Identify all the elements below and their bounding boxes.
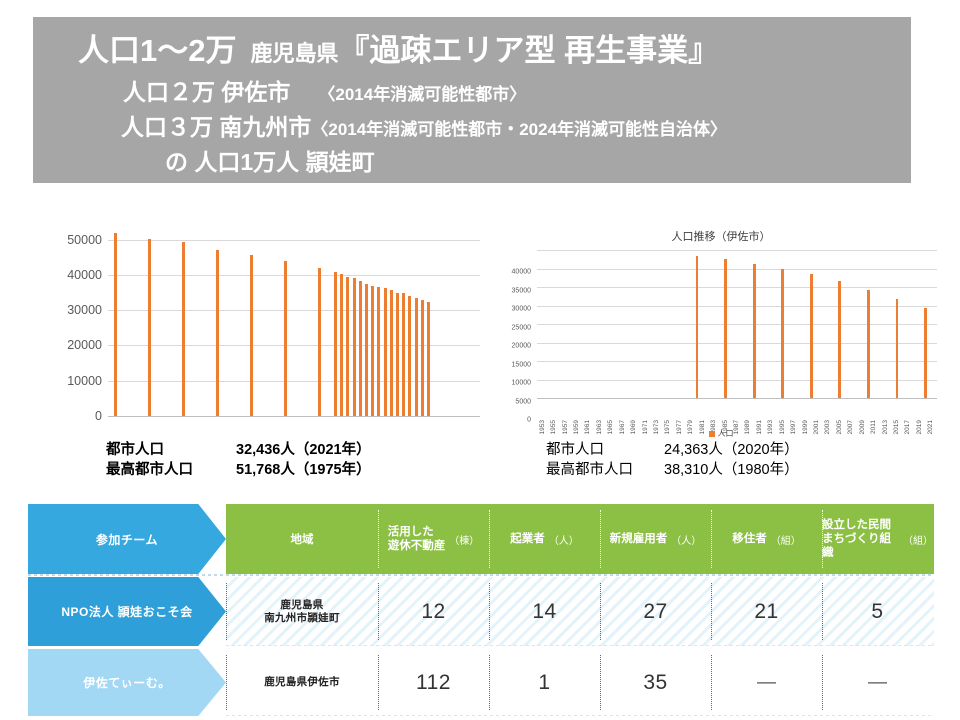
right-chart-gridline [537,324,937,325]
table-row-0-value-3-text: 21 [754,600,778,624]
left-chart-bar [390,290,393,416]
title-minamikyushu-head: 人口３万 南九州市 [121,114,311,140]
table-header-separator [28,574,934,576]
legend-swatch-icon [709,431,715,437]
cell-divider [822,583,823,640]
right-chart-bar [810,274,813,398]
table-row-1-value-3-text: — [757,672,776,694]
cell-divider [226,655,227,710]
left-chart-bar [421,300,424,416]
right-chart-bar [696,256,699,398]
right-chart-bar [838,281,841,398]
right-chart-gridline [537,361,937,362]
left-chart-plot-area [108,222,480,416]
table-header-col-0: 活用した 遊休不動産 （棟） [378,504,489,574]
table-header-team-cell: 参加チーム [28,504,226,574]
left-chart-gridline [108,416,480,417]
left-chart-bar [182,242,185,416]
left-chart-bar [359,281,362,416]
right-chart-ytick: 10000 [512,380,531,387]
table-row-0-cells: 鹿児島県 南九州市頴娃町 12 14 27 21 5 [226,577,934,646]
table-header-col-0-unit: （棟） [449,532,479,547]
right-chart-plot-area [537,250,937,398]
caption-left-row2: 最高都市人口51,768人（1975年） [106,460,371,480]
cell-divider [600,510,601,568]
table-header-col-4-unit: （組） [903,532,933,547]
caption-isa: 都市人口24,363人（2020年） 最高都市人口38,310人（1980年） [546,440,799,480]
table-header-col-2-unit: （人） [671,532,701,547]
caption-left-row1-value: 32,436人（2021年） [236,442,371,458]
right-chart-gridline [537,398,937,399]
table-row-0-value-2: 27 [600,577,711,646]
right-chart-gridline [537,287,937,288]
cell-divider [378,510,379,568]
cell-divider [378,655,379,710]
caption-right-row2: 最高都市人口38,310人（1980年） [546,460,799,480]
cell-divider [822,510,823,568]
chart-isa-population: 人口推移（伊佐市） 400003500030000250002000015000… [487,228,955,440]
title-line-ei: の 人口1万人 頴娃町 [33,146,911,178]
table-row-0-value-3: 21 [711,577,822,646]
right-chart-bar [924,308,927,398]
table-row-1-team-label: 伊佐てぃーむ。 [83,674,171,691]
table-header-cells: 地域 活用した 遊休不動産 （棟） 起業者 （人） [226,504,934,574]
left-chart-bar [427,302,430,416]
right-chart-gridline [537,380,937,381]
table-row-0-separator [226,645,934,646]
table-row-0-team-cell: NPO法人 頴娃おこそ会 [28,577,226,646]
left-chart-bar [365,284,368,416]
title-project-text: 『過疎エリア型 再生事業』 [339,33,720,68]
left-chart-ytick: 50000 [67,233,102,247]
right-chart-bar [781,269,784,398]
left-chart-ytick: 10000 [67,374,102,388]
table-header-col-3-line1: 移住者 [732,533,767,545]
table-row-0-team-label: NPO法人 頴娃おこそ会 [61,603,192,620]
right-chart-bar [753,264,756,398]
right-chart-bar [724,259,727,398]
right-chart-ytick: 20000 [512,343,531,350]
caption-left-row2-label: 最高都市人口 [106,460,236,480]
cell-divider [822,655,823,710]
table-row-0-value-4: 5 [822,577,933,646]
chart-minamikyushu-population: 50000400003000020000100000 [20,208,485,430]
left-chart-bar [402,293,405,416]
cell-divider [226,583,227,640]
title-isa-head: 人口２万 伊佐市 [123,79,290,105]
cell-divider [489,510,490,568]
left-chart-y-axis: 50000400003000020000100000 [20,208,102,420]
table-header-col-0-line2: 遊休不動産 [388,540,446,552]
table-row-0-region: 鹿児島県 南九州市頴娃町 [226,577,378,646]
cell-divider [711,583,712,640]
caption-right-row1: 都市人口24,363人（2020年） [546,440,799,460]
left-chart-bar [415,298,418,416]
table-header-region-label: 地域 [291,531,314,547]
left-chart-bar [408,296,411,416]
table-row-1-value-0-text: 112 [416,671,451,695]
left-chart-bar [284,261,287,416]
left-chart-gridline [108,345,480,346]
title-line-isa: 人口２万 伊佐市〈2014年消滅可能性都市〉 [33,76,911,111]
table-row-1-value-4-text: — [868,672,887,694]
cell-divider [378,583,379,640]
caption-right-row2-value: 38,310人（1980年） [664,462,799,478]
table-row-1-value-4: — [822,649,933,716]
table-row: NPO法人 頴娃おこそ会 鹿児島県 南九州市頴娃町 12 14 27 [28,577,934,646]
table-row-1-value-2: 35 [600,649,711,716]
table-header-team-label: 参加チーム [96,531,158,548]
table-header-col-2: 新規雇用者 （人） [600,504,711,574]
left-chart-bar [396,293,399,416]
right-chart-gridline [537,269,937,270]
left-chart-bar [318,268,321,416]
left-chart-ytick: 0 [95,409,102,423]
title-line-primary: 人口1〜2万鹿児島県『過疎エリア型 再生事業』 [33,29,911,76]
table-header-col-1: 起業者 （人） [489,504,600,574]
title-ei-text: の 人口1万人 頴娃町 [165,149,375,175]
table-header-col-4-line2: まちづくり組織 [822,533,891,559]
cell-divider [489,583,490,640]
table-header-col-1-line1: 起業者 [510,533,545,545]
table-row-0-value-1: 14 [489,577,600,646]
right-chart-legend: 人口 [487,428,955,439]
title-minamikyushu-note: 〈2014年消滅可能性都市・2024年消滅可能性自治体〉 [311,120,727,139]
table-header-col-4-line1: 設立した民間 [822,519,891,531]
right-chart-gridline [537,250,937,251]
caption-left-row1-label: 都市人口 [106,440,236,460]
table-header-region: 地域 [226,504,378,574]
table-row: 伊佐てぃーむ。 鹿児島県伊佐市 112 1 35 [28,649,934,716]
table-header-row: 参加チーム 地域 活用した 遊休不動産 （棟） 起業者 [28,504,934,574]
right-chart-gridline [537,343,937,344]
cell-divider [600,583,601,640]
left-chart-gridline [108,275,480,276]
table-row-1-region-line1: 鹿児島県伊佐市 [264,676,340,688]
caption-minamikyushu: 都市人口32,436人（2021年） 最高都市人口51,768人（1975年） [106,440,371,480]
title-prefecture-text: 鹿児島県 [250,41,338,66]
left-chart-bar [346,277,349,416]
table-row-1-value-2-text: 35 [643,671,667,695]
table-header-col-0-line1: 活用した [388,526,434,538]
cell-divider [711,655,712,710]
left-chart-ytick: 20000 [67,338,102,352]
right-chart-gridline [537,306,937,307]
left-chart-bar [384,288,387,416]
table-row-1-region: 鹿児島県伊佐市 [226,649,378,716]
left-chart-ytick: 40000 [67,268,102,282]
left-chart-bar [334,272,337,416]
table-row-0-value-4-text: 5 [871,600,883,624]
cell-divider [711,510,712,568]
table-row-1-value-1: 1 [489,649,600,716]
title-line-minamikyushu: 人口３万 南九州市〈2014年消滅可能性都市・2024年消滅可能性自治体〉 [33,111,911,146]
right-chart-y-axis: 4000035000300002500020000150001000050000 [487,250,531,400]
table-row-0-value-0: 12 [378,577,489,646]
legend-label: 人口 [718,429,734,438]
table-header-col-4: 設立した民間 まちづくり組織 （組） [822,504,933,574]
right-chart-ytick: 40000 [512,269,531,276]
left-chart-bar [216,250,219,416]
left-chart-bar [114,233,117,416]
table-header-col-3-unit: （組） [771,532,801,547]
right-chart-bar [867,290,870,398]
results-table: 参加チーム 地域 活用した 遊休不動産 （棟） 起業者 [28,504,934,716]
table-row-1-value-0: 112 [378,649,489,716]
table-row-1-team-cell: 伊佐てぃーむ。 [28,649,226,716]
table-row-0-value-1-text: 14 [532,600,556,624]
caption-left-row1: 都市人口32,436人（2021年） [106,440,371,460]
cell-divider [489,655,490,710]
caption-right-row2-label: 最高都市人口 [546,460,664,480]
right-chart-ytick: 30000 [512,306,531,313]
table-row-0-region-line2: 南九州市頴娃町 [264,612,340,624]
table-header-col-3: 移住者 （組） [711,504,822,574]
cell-divider [600,655,601,710]
left-chart-ytick: 30000 [67,303,102,317]
left-chart-bar [371,286,374,417]
table-header-col-1-unit: （人） [549,532,579,547]
right-chart-ytick: 35000 [512,287,531,294]
left-chart-gridline [108,310,480,311]
right-chart-title: 人口推移（伊佐市） [487,228,955,244]
left-chart-bar [148,239,151,416]
table-row-1-value-1-text: 1 [538,671,550,695]
table-row-0-region-line1: 鹿児島県 [280,599,323,611]
right-chart-ytick: 25000 [512,324,531,331]
right-chart-ytick: 15000 [512,361,531,368]
title-isa-note: 〈2014年消滅可能性都市〉 [318,85,526,104]
caption-right-row1-value: 24,363人（2020年） [664,442,799,458]
table-row-0-value-0-text: 12 [421,600,445,624]
right-chart-ytick: 0 [527,417,531,424]
right-chart-bar [896,299,899,398]
title-banner: 人口1〜2万鹿児島県『過疎エリア型 再生事業』 人口２万 伊佐市〈2014年消滅… [33,17,911,183]
left-chart-bar [340,274,343,416]
left-chart-bar [353,278,356,416]
right-chart-ytick: 5000 [515,398,531,405]
title-main-text: 人口1〜2万 [78,33,236,68]
table-header-col-2-line1: 新規雇用者 [610,533,668,545]
left-chart-gridline [108,381,480,382]
table-row-1-cells: 鹿児島県伊佐市 112 1 35 — — [226,649,934,716]
table-row-1-separator [226,715,934,716]
table-row-1-value-3: — [711,649,822,716]
table-row-0-value-2-text: 27 [643,600,667,624]
caption-right-row1-label: 都市人口 [546,440,664,460]
left-chart-bar [377,287,380,416]
left-chart-gridline [108,240,480,241]
left-chart-bar [250,255,253,416]
caption-left-row2-value: 51,768人（1975年） [236,462,371,478]
